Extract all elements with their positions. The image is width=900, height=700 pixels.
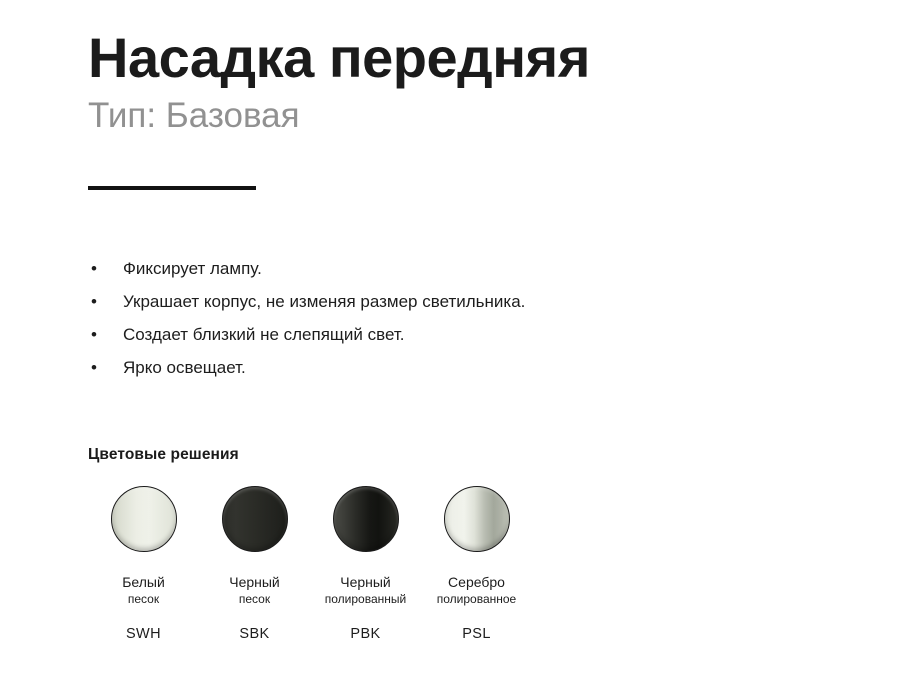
list-item: • Ярко освещает. <box>88 351 788 384</box>
swatch-name-line2: песок <box>239 591 270 608</box>
list-item: • Украшает корпус, не изменяя размер све… <box>88 285 788 318</box>
color-swatch-group: Белый песок SWH Черный песок SBK Черный … <box>88 486 532 643</box>
page-header: Насадка передняя Тип: Базовая <box>88 28 848 136</box>
swatch-disc-icon[interactable] <box>222 486 288 552</box>
color-swatch-swh[interactable]: Белый песок SWH <box>88 486 199 643</box>
swatch-name-line1: Белый <box>122 573 165 591</box>
swatch-name-line1: Черный <box>340 573 391 591</box>
page-subtitle: Тип: Базовая <box>88 97 848 136</box>
list-item: • Фиксирует лампу. <box>88 252 788 285</box>
swatch-code: PSL <box>462 625 491 643</box>
swatch-name-line2: песок <box>128 591 159 608</box>
feature-text: Ярко освещает. <box>123 358 246 377</box>
list-item: • Создает близкий не слепящий свет. <box>88 318 788 351</box>
swatch-name-line2: полированное <box>437 591 516 608</box>
feature-text: Украшает корпус, не изменяя размер свети… <box>123 292 525 311</box>
swatch-name-line1: Серебро <box>448 573 505 591</box>
colors-section-heading: Цветовые решения <box>88 446 239 464</box>
page-title: Насадка передняя <box>88 28 848 87</box>
feature-text: Фиксирует лампу. <box>123 259 262 278</box>
swatch-disc-icon[interactable] <box>444 486 510 552</box>
feature-list: • Фиксирует лампу. • Украшает корпус, не… <box>88 252 788 384</box>
swatch-disc-icon[interactable] <box>333 486 399 552</box>
bullet-icon: • <box>91 252 105 285</box>
swatch-code: SBK <box>239 625 269 643</box>
color-swatch-sbk[interactable]: Черный песок SBK <box>199 486 310 643</box>
color-swatch-pbk[interactable]: Черный полированный PBK <box>310 486 421 643</box>
bullet-icon: • <box>91 318 105 351</box>
swatch-name-line1: Черный <box>229 573 280 591</box>
bullet-icon: • <box>91 285 105 318</box>
title-divider <box>88 186 256 190</box>
product-info-page: Насадка передняя Тип: Базовая • Фиксируе… <box>0 0 900 700</box>
bullet-icon: • <box>91 351 105 384</box>
swatch-disc-icon[interactable] <box>111 486 177 552</box>
swatch-code: PBK <box>350 625 380 643</box>
feature-text: Создает близкий не слепящий свет. <box>123 325 404 344</box>
swatch-name-line2: полированный <box>325 591 406 608</box>
swatch-code: SWH <box>126 625 161 643</box>
color-swatch-psl[interactable]: Серебро полированное PSL <box>421 486 532 643</box>
